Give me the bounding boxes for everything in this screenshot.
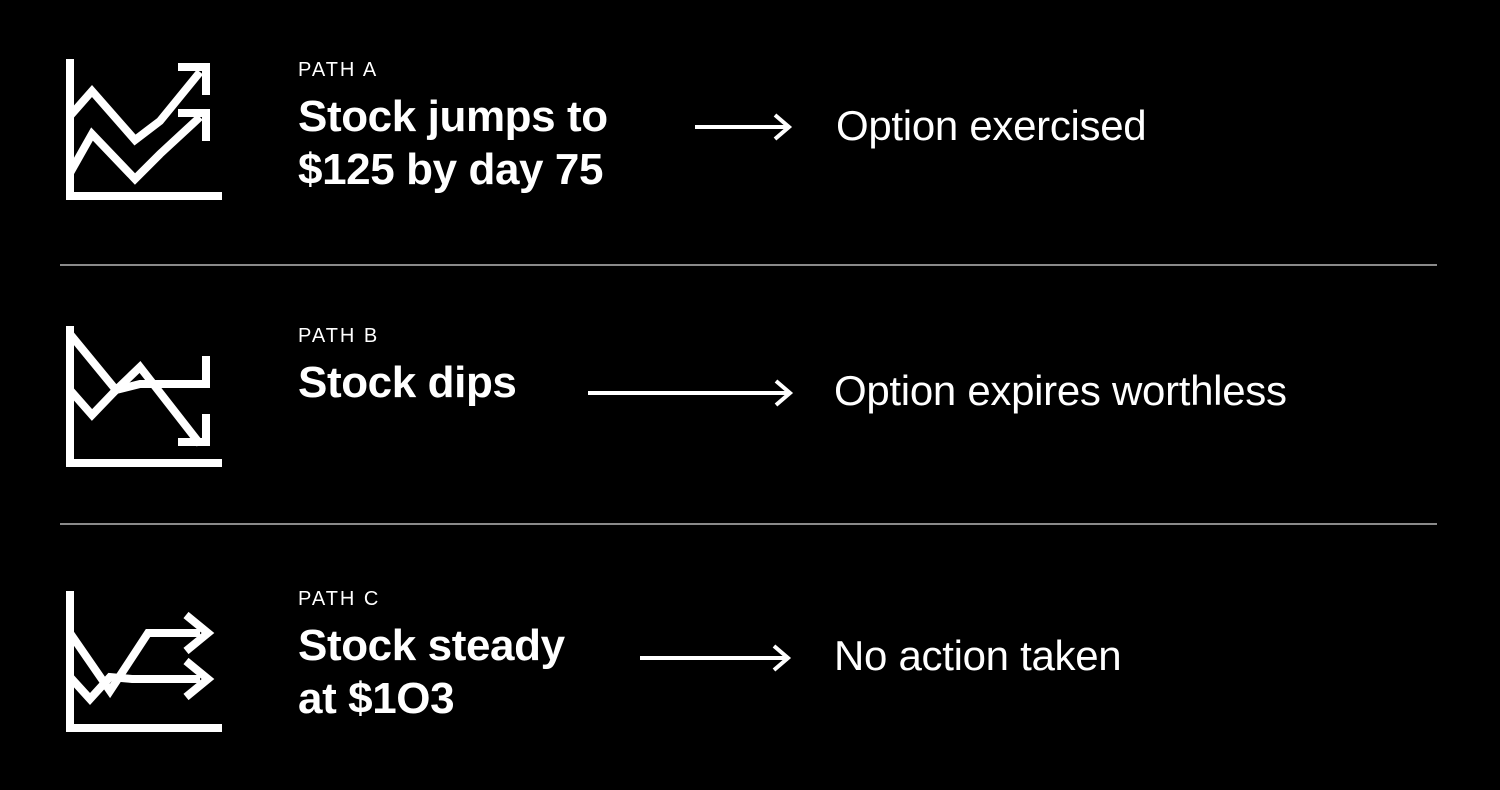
path-b-right-arrow-icon [586, 378, 798, 408]
divider-2 [60, 523, 1437, 525]
path-a-label: PATH A [298, 58, 608, 82]
scenario-paths-panel: PATH A Stock jumps to $125 by day 75 Opt… [0, 0, 1500, 790]
chart-up-arrows-icon [60, 55, 230, 210]
path-c-right-arrow-icon [638, 643, 796, 673]
chart-flat-arrows-icon [60, 587, 230, 742]
path-a-right-arrow-icon [693, 112, 797, 142]
path-a-outcome: Option exercised [836, 101, 1146, 151]
path-a-text-group: PATH A Stock jumps to $125 by day 75 [298, 58, 608, 196]
path-b-label: PATH B [298, 324, 517, 348]
path-c-text-group: PATH C Stock steady at $1O3 [298, 587, 565, 725]
chart-down-arrows-icon [60, 322, 230, 477]
path-c-headline: Stock steady at $1O3 [298, 619, 565, 725]
path-b-text-group: PATH B Stock dips [298, 324, 517, 409]
path-c-label: PATH C [298, 587, 565, 611]
path-a-headline: Stock jumps to $125 by day 75 [298, 90, 608, 196]
path-c-outcome: No action taken [834, 631, 1121, 681]
path-b-outcome: Option expires worthless [834, 366, 1287, 416]
divider-1 [60, 264, 1437, 266]
path-b-headline: Stock dips [298, 356, 517, 409]
